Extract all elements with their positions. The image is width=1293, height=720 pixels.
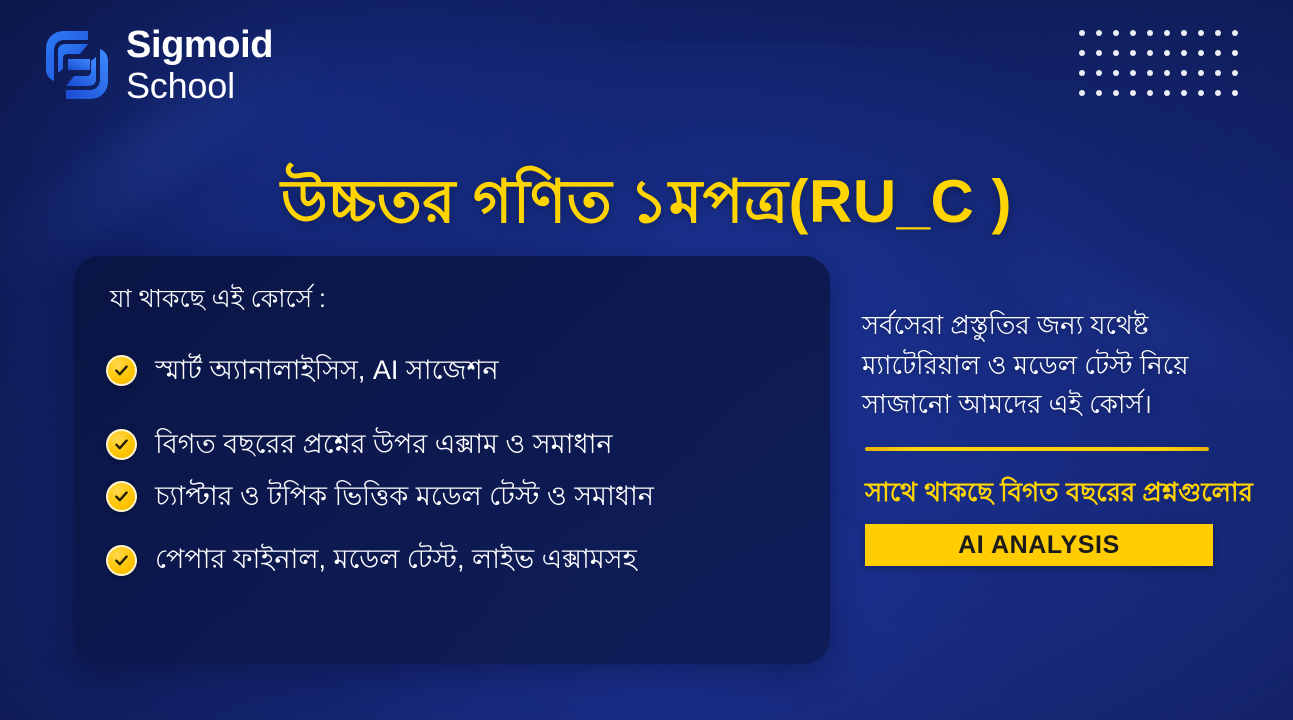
- grid-dot: [1113, 50, 1119, 56]
- grid-dot: [1232, 70, 1238, 76]
- grid-dot: [1164, 30, 1170, 36]
- feature-list: স্মার্ট অ্যানালাইসিস, AI সাজেশনবিগত বছরে…: [106, 354, 802, 577]
- grid-dot: [1096, 70, 1102, 76]
- grid-dot: [1130, 50, 1136, 56]
- feature-list-item-label: স্মার্ট অ্যানালাইসিস, AI সাজেশন: [155, 354, 499, 388]
- grid-dot: [1079, 90, 1085, 96]
- grid-dot: [1113, 90, 1119, 96]
- grid-dot: [1215, 70, 1221, 76]
- grid-dot: [1113, 70, 1119, 76]
- feature-list-item-label: পেপার ফাইনাল, মডেল টেস্ট, লাইভ এক্সামসহ: [155, 543, 637, 577]
- dot-grid-decoration: [1079, 30, 1249, 110]
- feature-list-item-label: চ্যাপ্টার ও টপিক ভিত্তিক মডেল টেস্ট ও সম…: [155, 480, 654, 514]
- grid-dot: [1079, 70, 1085, 76]
- grid-dot: [1215, 30, 1221, 36]
- page-title: উচ্চতর গণিত ১মপত্র(RU_C ): [0, 168, 1293, 235]
- grid-dot: [1215, 50, 1221, 56]
- brand-wordmark: Sigmoid School: [126, 26, 273, 104]
- grid-dot: [1181, 50, 1187, 56]
- grid-dot: [1198, 90, 1204, 96]
- check-icon: [106, 355, 137, 386]
- brand-logo[interactable]: Sigmoid School: [44, 26, 273, 104]
- grid-dot: [1215, 90, 1221, 96]
- feature-list-item: পেপার ফাইনাল, মডেল টেস্ট, লাইভ এক্সামসহ: [106, 543, 802, 577]
- grid-dot: [1181, 90, 1187, 96]
- grid-dot: [1079, 50, 1085, 56]
- banner-canvas: Sigmoid School উচ্চতর গণিত ১মপত্র(RU_C )…: [0, 0, 1293, 720]
- grid-dot: [1232, 90, 1238, 96]
- course-description-panel: সর্বসেরা প্রস্তুতির জন্য যথেষ্ট ম্যাটেরি…: [862, 306, 1282, 566]
- grid-dot: [1079, 30, 1085, 36]
- course-description-text: সর্বসেরা প্রস্তুতির জন্য যথেষ্ট ম্যাটেরি…: [862, 306, 1214, 425]
- gold-divider: [865, 447, 1209, 451]
- grid-dot: [1130, 70, 1136, 76]
- grid-dot: [1181, 70, 1187, 76]
- grid-dot: [1198, 50, 1204, 56]
- grid-dot: [1147, 90, 1153, 96]
- grid-dot: [1181, 30, 1187, 36]
- grid-dot: [1113, 30, 1119, 36]
- grid-dot: [1164, 90, 1170, 96]
- grid-dot: [1198, 30, 1204, 36]
- grid-dot: [1232, 30, 1238, 36]
- feature-list-item: বিগত বছরের প্রশ্নের উপর এক্সাম ও সমাধান: [106, 428, 802, 462]
- check-icon: [106, 545, 137, 576]
- feature-list-item-label: বিগত বছরের প্রশ্নের উপর এক্সাম ও সমাধান: [155, 428, 613, 462]
- feature-list-item: স্মার্ট অ্যানালাইসিস, AI সাজেশন: [106, 354, 802, 388]
- check-icon: [106, 481, 137, 512]
- grid-dot: [1096, 30, 1102, 36]
- grid-dot: [1147, 70, 1153, 76]
- brand-name-primary: Sigmoid: [126, 26, 273, 64]
- course-features-card: যা থাকছে এই কোর্সে : স্মার্ট অ্যানালাইসি…: [74, 256, 830, 664]
- grid-dot: [1147, 50, 1153, 56]
- promo-headline: সাথে থাকছে বিগত বছরের প্রশ্নগুলোর: [865, 477, 1282, 508]
- grid-dot: [1147, 30, 1153, 36]
- features-heading: যা থাকছে এই কোর্সে :: [110, 284, 802, 314]
- grid-dot: [1232, 50, 1238, 56]
- check-icon: [106, 429, 137, 460]
- ai-analysis-button[interactable]: AI ANALYSIS: [865, 524, 1213, 566]
- grid-dot: [1096, 50, 1102, 56]
- sigmoid-logo-mark-icon: [44, 29, 110, 101]
- grid-dot: [1130, 90, 1136, 96]
- brand-name-secondary: School: [126, 68, 273, 104]
- grid-dot: [1164, 70, 1170, 76]
- grid-dot: [1130, 30, 1136, 36]
- grid-dot: [1164, 50, 1170, 56]
- grid-dot: [1198, 70, 1204, 76]
- grid-dot: [1096, 90, 1102, 96]
- feature-list-item: চ্যাপ্টার ও টপিক ভিত্তিক মডেল টেস্ট ও সম…: [106, 480, 802, 514]
